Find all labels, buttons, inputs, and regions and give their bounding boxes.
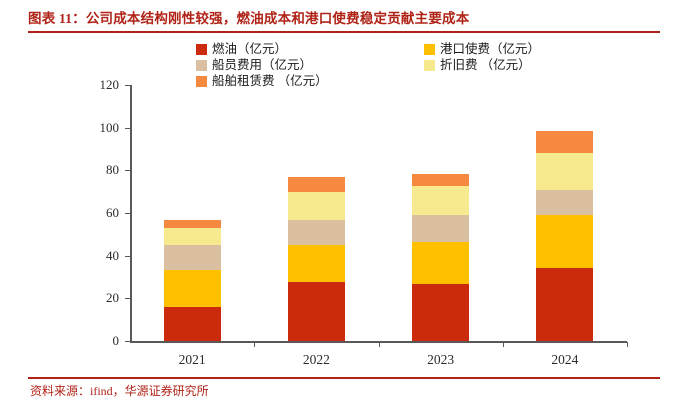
- y-axis-tick-label: 40: [85, 249, 119, 262]
- y-axis-tick-label: 120: [85, 78, 119, 91]
- bar-segment[interactable]: [164, 245, 221, 270]
- bar-segment[interactable]: [536, 131, 593, 153]
- x-axis-tick: [379, 342, 380, 347]
- bar-group[interactable]: [288, 177, 345, 341]
- x-axis-tick-label: 2022: [276, 353, 356, 367]
- bar-segment[interactable]: [288, 245, 345, 282]
- bar-segment[interactable]: [536, 268, 593, 341]
- y-axis-tick: [125, 213, 130, 214]
- y-axis-tick: [125, 256, 130, 257]
- bar-segment[interactable]: [412, 174, 469, 186]
- y-axis-tick: [125, 85, 130, 86]
- y-axis-tick-label: 60: [85, 206, 119, 219]
- bar-segment[interactable]: [288, 220, 345, 245]
- y-axis-tick-label: 80: [85, 163, 119, 176]
- bar-segment[interactable]: [536, 190, 593, 216]
- bar-segment[interactable]: [412, 284, 469, 341]
- y-axis-tick-label: 100: [85, 121, 119, 134]
- bar-segment[interactable]: [164, 220, 221, 228]
- y-axis-tick: [125, 170, 130, 171]
- bar-segment[interactable]: [536, 215, 593, 268]
- bar-segment[interactable]: [288, 282, 345, 341]
- bar-segment[interactable]: [288, 192, 345, 220]
- stacked-bar-chart: 0204060801001202021202220232024: [0, 0, 687, 405]
- x-axis-tick: [503, 342, 504, 347]
- bar-segment[interactable]: [412, 242, 469, 285]
- bar-group[interactable]: [536, 131, 593, 341]
- y-axis-tick: [125, 341, 130, 342]
- y-axis-tick-label: 20: [85, 291, 119, 304]
- bar-group[interactable]: [412, 174, 469, 341]
- x-axis-tick-label: 2023: [401, 353, 481, 367]
- y-axis-line: [130, 85, 132, 342]
- x-axis-tick: [627, 342, 628, 347]
- bar-segment[interactable]: [412, 215, 469, 242]
- bar-segment[interactable]: [164, 307, 221, 341]
- figure-container: 图表 11：公司成本结构刚性较强，燃油成本和港口使费稳定贡献主要成本 燃油（亿元…: [0, 0, 687, 405]
- y-axis-tick-label: 0: [85, 334, 119, 347]
- footer-divider: [28, 377, 660, 379]
- bar-group[interactable]: [164, 220, 221, 341]
- x-axis-tick-label: 2024: [525, 353, 605, 367]
- x-axis-tick-label: 2021: [152, 353, 232, 367]
- bar-segment[interactable]: [164, 270, 221, 307]
- bar-segment[interactable]: [288, 177, 345, 192]
- source-note: 资料来源：ifind，华源证券研究所: [30, 382, 209, 399]
- bar-segment[interactable]: [164, 228, 221, 245]
- bar-segment[interactable]: [412, 186, 469, 215]
- y-axis-tick: [125, 298, 130, 299]
- y-axis-tick: [125, 128, 130, 129]
- bar-segment[interactable]: [536, 153, 593, 189]
- x-axis-tick: [254, 342, 255, 347]
